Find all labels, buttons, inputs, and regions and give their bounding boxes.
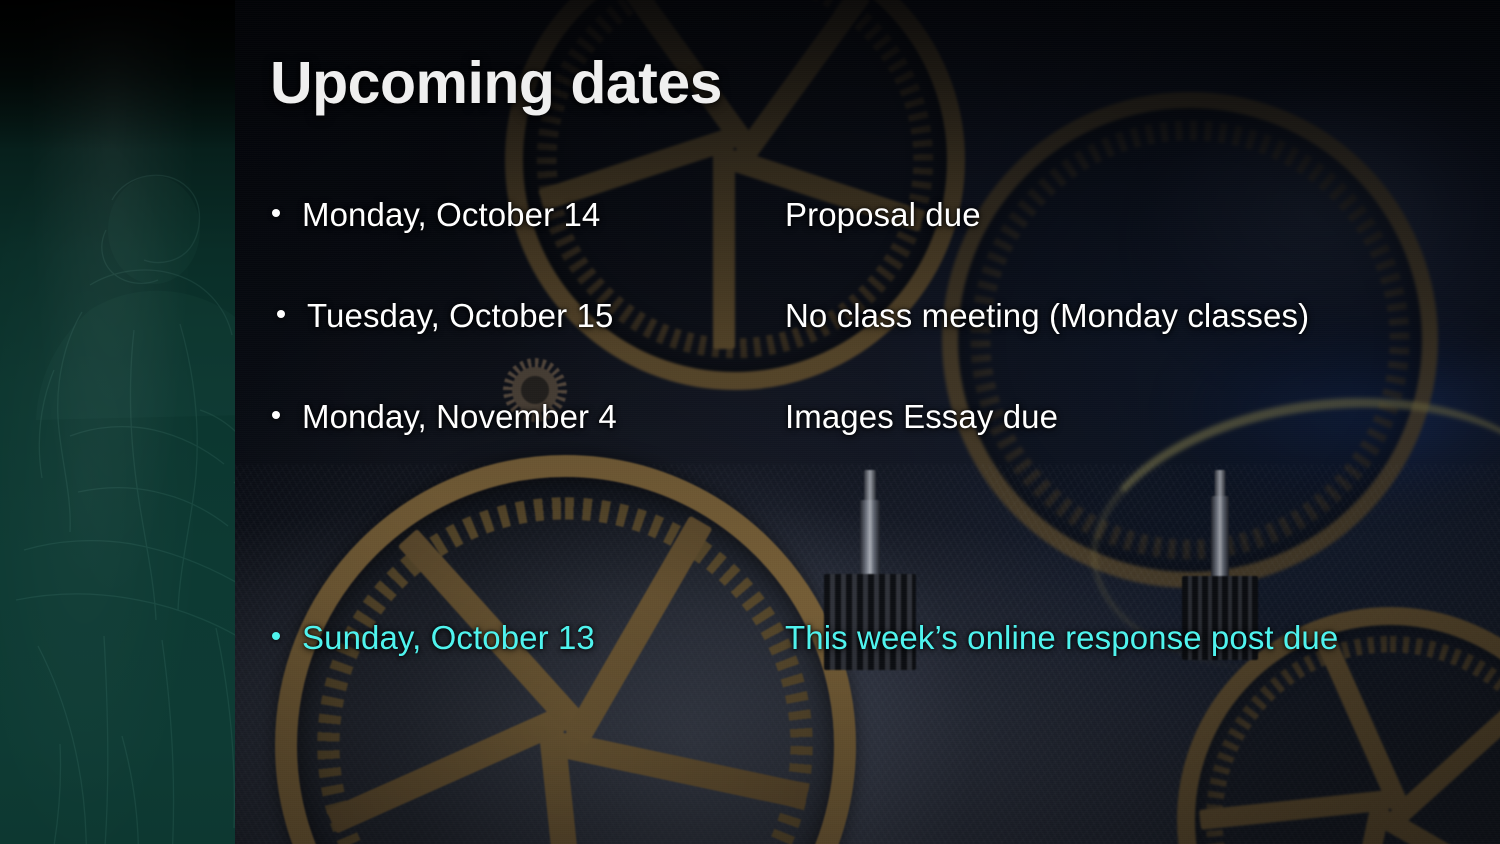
list-item: Monday, October 14 Proposal due — [272, 196, 1487, 235]
list-item-date: Monday, October 14 — [302, 196, 785, 235]
list-item-date: Monday, November 4 — [302, 398, 785, 437]
list-item: Tuesday, October 15 No class meeting (Mo… — [272, 297, 1487, 336]
list-item-date: Tuesday, October 15 — [307, 297, 785, 336]
bullet-dot-icon — [272, 632, 280, 640]
upcoming-dates-list: Monday, October 14 Proposal due Tuesday,… — [272, 196, 1487, 720]
list-item-detail: This week’s online response post due — [785, 619, 1487, 658]
list-item-detail: No class meeting (Monday classes) — [785, 297, 1487, 336]
slide-content: Upcoming dates Monday, October 14 Propos… — [0, 0, 1500, 844]
list-item: Monday, November 4 Images Essay due — [272, 398, 1487, 437]
list-item-detail: Images Essay due — [785, 398, 1487, 437]
bullet-dot-icon — [277, 310, 285, 318]
page-title: Upcoming dates — [270, 52, 722, 116]
list-item-highlighted: Sunday, October 13 This week’s online re… — [272, 619, 1487, 658]
bullet-dot-icon — [272, 209, 280, 217]
list-item-detail: Proposal due — [785, 196, 1487, 235]
bullet-dot-icon — [272, 411, 280, 419]
list-item-date: Sunday, October 13 — [302, 619, 785, 658]
presentation-slide: Upcoming dates Monday, October 14 Propos… — [0, 0, 1500, 844]
